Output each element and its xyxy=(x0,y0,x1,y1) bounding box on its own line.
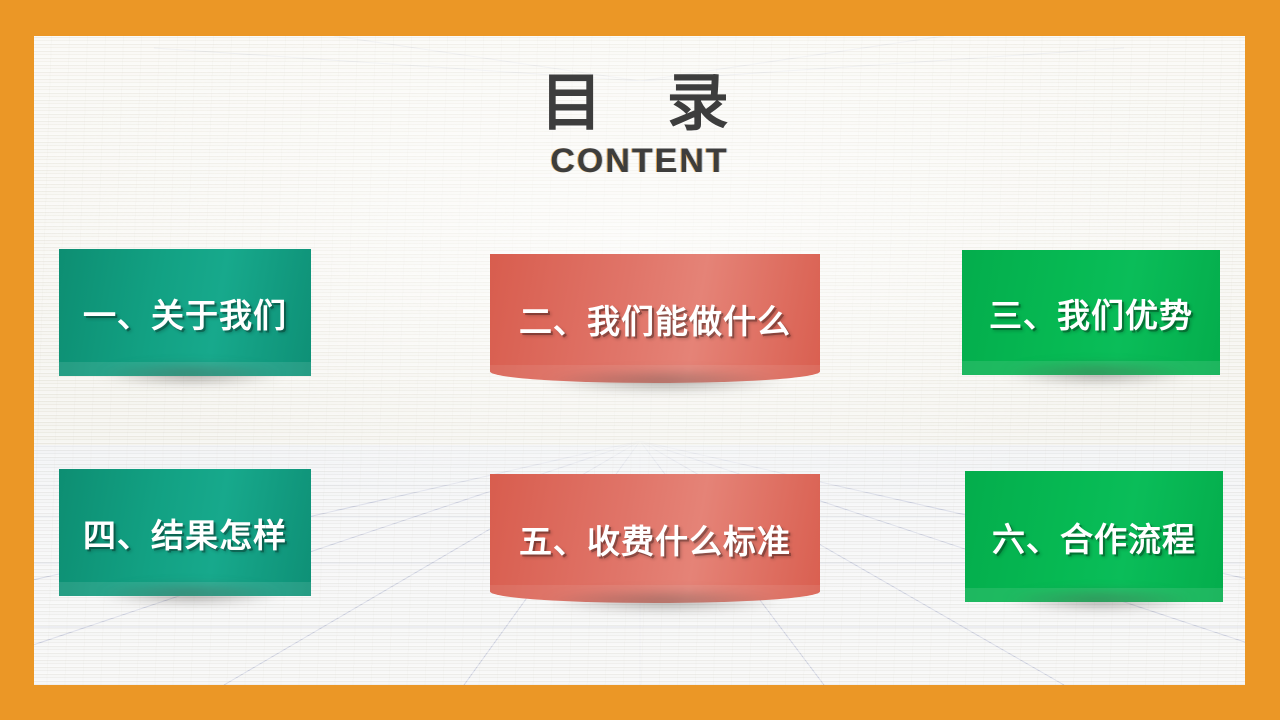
page-subtitle: CONTENT xyxy=(34,142,1245,181)
toc-card-3[interactable]: 三、我们优势 xyxy=(962,250,1220,375)
toc-card-5-label: 五、收费什么标准 xyxy=(519,515,791,563)
title-block: 目 录 CONTENT xyxy=(34,70,1245,181)
page-title: 目 录 xyxy=(34,70,1245,138)
toc-card-2[interactable]: 二、我们能做什么 xyxy=(490,254,820,383)
toc-card-6-label: 六、合作流程 xyxy=(992,513,1196,561)
toc-card-2-label: 二、我们能做什么 xyxy=(519,295,791,343)
toc-card-1[interactable]: 一、关于我们 xyxy=(59,249,311,376)
slide-canvas: 目 录 CONTENT 一、关于我们 二、我们能做什么 三、我们优势 四、结果怎… xyxy=(0,0,1280,720)
toc-card-1-label: 一、关于我们 xyxy=(83,289,287,337)
toc-card-4-label: 四、结果怎样 xyxy=(83,509,287,557)
toc-card-4[interactable]: 四、结果怎样 xyxy=(59,469,311,596)
toc-card-5[interactable]: 五、收费什么标准 xyxy=(490,474,820,603)
toc-card-6[interactable]: 六、合作流程 xyxy=(965,471,1223,602)
toc-card-3-label: 三、我们优势 xyxy=(989,289,1193,337)
slide-inner-panel: 目 录 CONTENT 一、关于我们 二、我们能做什么 三、我们优势 四、结果怎… xyxy=(34,36,1245,685)
